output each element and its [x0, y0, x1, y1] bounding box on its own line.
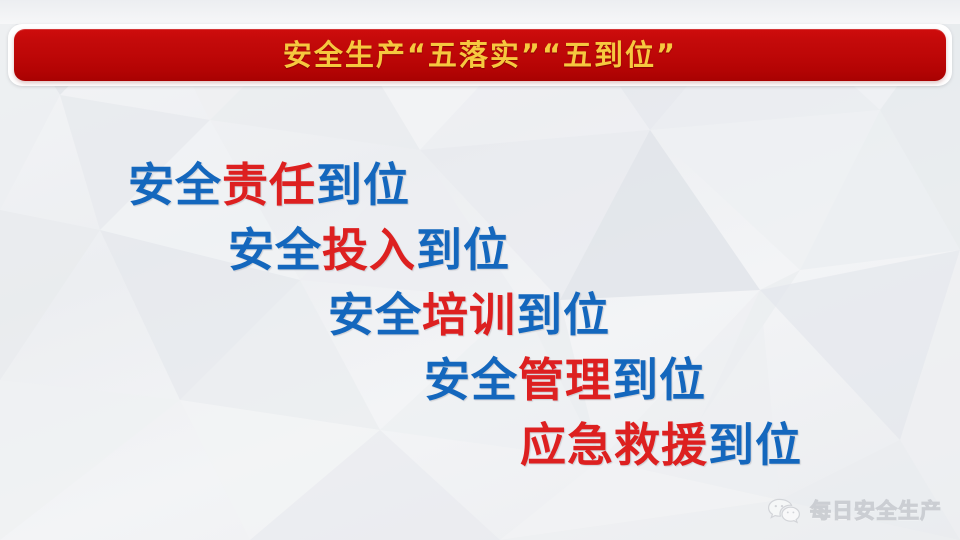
wechat-icon [767, 498, 801, 524]
slogan-5-highlight: 应急救援 [520, 418, 708, 472]
slogan-4-highlight: 管理 [518, 353, 612, 407]
watermark: 每日安全生产 [767, 498, 942, 524]
slogan-2-suffix: 到位 [416, 223, 510, 277]
top-gradient-strip [0, 0, 960, 24]
slogan-line-5: 应急救援到位 [520, 422, 802, 468]
slogan-line-2: 安全投入到位 [228, 227, 510, 273]
slogan-list: 安全责任到位 安全投入到位 安全培训到位 安全管理到位 应急救援到位 [0, 152, 960, 482]
banner-title-text: 安全生产“五落实”“五到位” [283, 41, 677, 70]
slogan-1-highlight: 责任 [222, 158, 316, 212]
slogan-3-prefix: 安全 [328, 288, 422, 342]
title-banner-frame: 安全生产“五落实”“五到位” [8, 24, 952, 86]
slide-canvas: 安全生产“五落实”“五到位” 安全责任到位 安全投入到位 安全培训到位 安全管理… [0, 0, 960, 540]
slogan-4-suffix: 到位 [612, 353, 706, 407]
slogan-1-suffix: 到位 [316, 158, 410, 212]
slogan-2-prefix: 安全 [228, 223, 322, 277]
slogan-2-highlight: 投入 [322, 223, 416, 277]
slogan-3-highlight: 培训 [422, 288, 516, 342]
slogan-line-3: 安全培训到位 [328, 292, 610, 338]
slogan-line-1: 安全责任到位 [128, 162, 410, 208]
slogan-line-4: 安全管理到位 [424, 357, 706, 403]
slogan-5-suffix: 到位 [708, 418, 802, 472]
slogan-4-prefix: 安全 [424, 353, 518, 407]
slogan-1-prefix: 安全 [128, 158, 222, 212]
slogan-3-suffix: 到位 [516, 288, 610, 342]
watermark-text: 每日安全生产 [810, 501, 942, 522]
title-banner: 安全生产“五落实”“五到位” [14, 29, 946, 81]
